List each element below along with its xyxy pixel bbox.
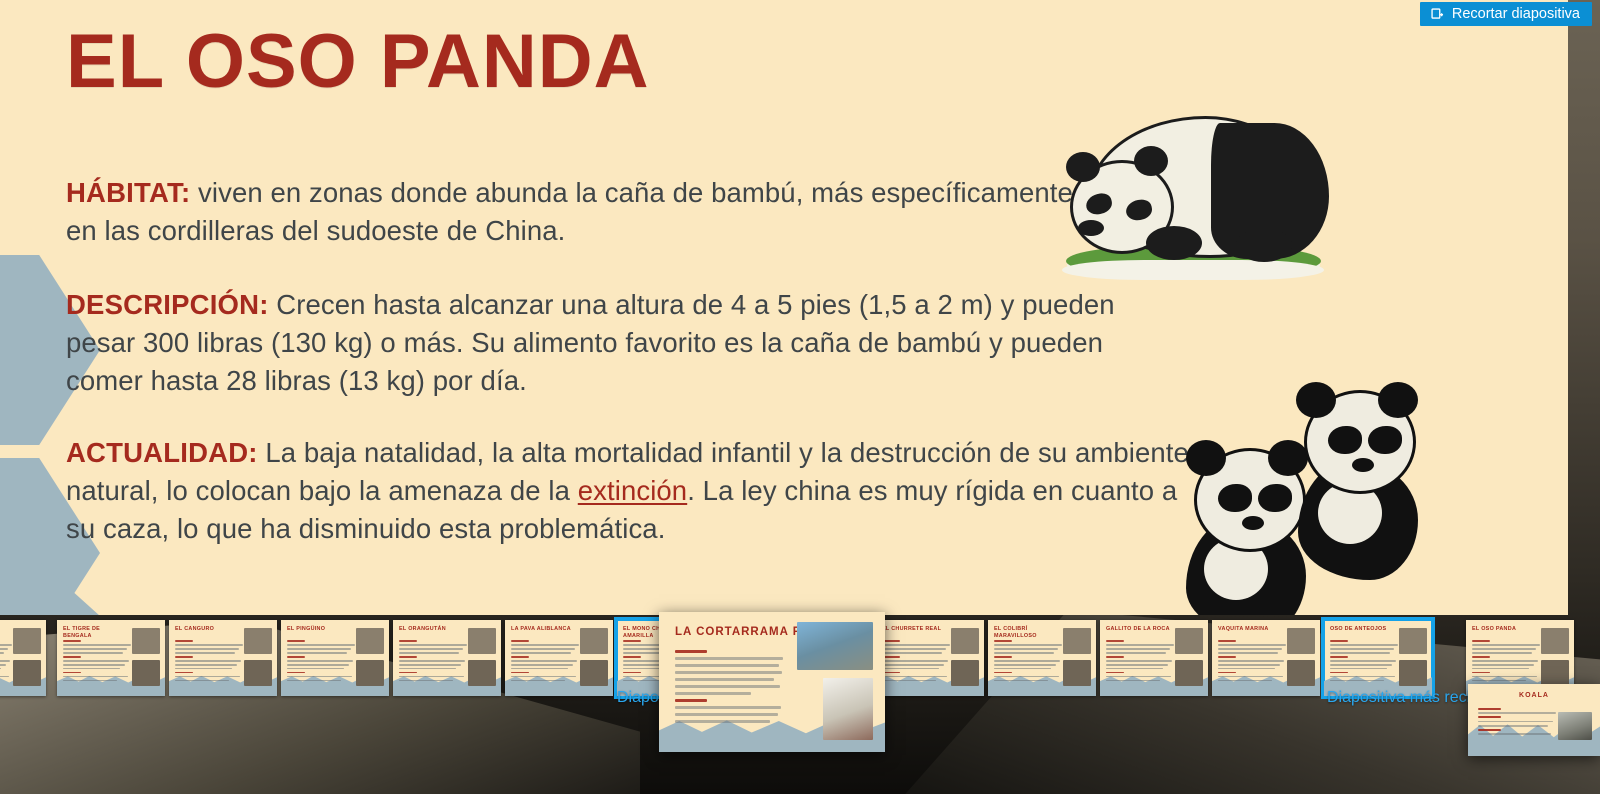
panda-paw-rear <box>1236 228 1292 262</box>
presentation-window: EL OSO PANDA HÁBITAT: viven en zonas don… <box>0 0 1600 794</box>
thumbnail-image-2 <box>1399 660 1427 686</box>
crop-slide-label: Recortar diapositiva <box>1452 7 1580 22</box>
filmstrip-thumbnail[interactable]: EL TIGRE DE BENGALA <box>57 620 165 696</box>
thumbnail-body-lines <box>994 640 1062 684</box>
filmstrip-thumbnail[interactable]: EL CHURRETE REAL <box>876 620 984 696</box>
extincion-link[interactable]: extinción <box>578 475 687 506</box>
thumbnail-image-2 <box>13 660 41 686</box>
thumbnail-image-2 <box>244 660 272 686</box>
filmstrip-thumbnail[interactable]: EL ORANGUTÁN <box>393 620 501 696</box>
descripcion-paragraph: DESCRIPCIÓN: Crecen hasta alcanzar una a… <box>66 286 1156 400</box>
cub-ear-left <box>1186 440 1226 476</box>
panda-ear-left <box>1066 152 1100 182</box>
thumbnail-body-lines <box>511 640 579 684</box>
thumbnail-image-1 <box>132 628 160 654</box>
thumbnail-title: EL OSO PANDA <box>1472 626 1538 633</box>
thumbnail-body-lines <box>1472 640 1540 684</box>
filmstrip-thumbnail[interactable]: OSO DE ANTEOJOS <box>1324 620 1432 696</box>
cub-eye-left <box>1328 426 1362 454</box>
thumbnail-image-1 <box>356 628 384 654</box>
panda-snout <box>1078 220 1104 236</box>
thumbnail-body-lines <box>0 640 12 684</box>
filmstrip-thumbnail[interactable]: EL OSO POLAR <box>0 620 46 696</box>
thumbnail-body-lines <box>1218 640 1286 684</box>
thumbnail-image-2 <box>580 660 608 686</box>
habitat-paragraph: HÁBITAT: viven en zonas donde abunda la … <box>66 174 1076 250</box>
slide-title: EL OSO PANDA <box>66 22 649 102</box>
thumbnail-title: VAQUITA MARINA <box>1218 626 1284 633</box>
cub-eye-right <box>1258 484 1292 512</box>
thumbnail-image-1 <box>951 628 979 654</box>
thumbnail-title: EL CHURRETE REAL <box>882 626 948 633</box>
thumbnail-image-1 <box>13 628 41 654</box>
filmstrip-thumbnail[interactable]: EL CANGURO <box>169 620 277 696</box>
thumbnail-image-2 <box>1287 660 1315 686</box>
slide-canvas[interactable]: EL OSO PANDA HÁBITAT: viven en zonas don… <box>0 0 1568 615</box>
thumbnail-image-2 <box>1063 660 1091 686</box>
thumbnail-title: EL TIGRE DE BENGALA <box>63 626 129 640</box>
thumbnail-image-1 <box>1175 628 1203 654</box>
cub-eye-left <box>1218 484 1252 512</box>
thumbnail-image-2 <box>1175 660 1203 686</box>
habitat-text: viven en zonas donde abunda la caña de b… <box>66 177 1073 246</box>
thumbnail-image-1 <box>1541 628 1569 654</box>
preview-cortarrama[interactable]: LA CORTARRAMA PERUANA <box>659 612 885 752</box>
cub-nose <box>1352 458 1374 472</box>
thumbnail-body-lines <box>175 640 243 684</box>
thumbnail-image-1 <box>468 628 496 654</box>
cub-ear-right <box>1268 440 1308 476</box>
thumbnail-image-1 <box>1399 628 1427 654</box>
thumbnail-image-2 <box>132 660 160 686</box>
cub-eye-right <box>1368 426 1402 454</box>
habitat-label: HÁBITAT: <box>66 177 190 208</box>
thumbnail-body-lines <box>1330 640 1398 684</box>
thumbnail-title: LA PAVA ALIBLANCA <box>511 626 577 633</box>
thumbnail-image-2 <box>356 660 384 686</box>
filmstrip-thumbnail[interactable]: LA PAVA ALIBLANCA <box>505 620 613 696</box>
actualidad-paragraph: ACTUALIDAD: La baja natalidad, la alta m… <box>66 434 1206 548</box>
thumbnail-body-lines <box>63 640 131 684</box>
thumbnail-image-1 <box>244 628 272 654</box>
cub-ear-right <box>1378 382 1418 418</box>
thumbnail-image-1 <box>1063 628 1091 654</box>
thumbnail-title: EL OSO POLAR <box>0 626 10 633</box>
crop-slide-button[interactable]: Recortar diapositiva <box>1420 2 1592 26</box>
thumbnail-body-lines <box>399 640 467 684</box>
thumbnail-image-2 <box>1541 660 1569 686</box>
thumbnail-body-lines <box>287 640 355 684</box>
preview-koala[interactable]: KOALA <box>1468 684 1600 756</box>
thumbnail-title: EL COLIBRÍ MARAVILLOSO <box>994 626 1060 640</box>
filmstrip-thumbnail[interactable]: EL COLIBRÍ MARAVILLOSO <box>988 620 1096 696</box>
actualidad-label: ACTUALIDAD: <box>66 437 258 468</box>
thumbnail-image-1 <box>1287 628 1315 654</box>
thumbnail-title: OSO DE ANTEOJOS <box>1330 626 1396 633</box>
sleeping-panda-photo[interactable] <box>1060 108 1330 288</box>
filmstrip-thumbnail[interactable]: EL PINGÜINO <box>281 620 389 696</box>
filmstrip-thumbnail[interactable]: VAQUITA MARINA <box>1212 620 1320 696</box>
thumbnail-image-2 <box>951 660 979 686</box>
thumbnail-title: EL PINGÜINO <box>287 626 353 633</box>
thumbnail-body-lines <box>1106 640 1174 684</box>
preview-body-lines <box>1478 708 1556 737</box>
panda-paw-front <box>1146 226 1202 260</box>
cub-ear-left <box>1296 382 1336 418</box>
descripcion-label: DESCRIPCIÓN: <box>66 289 269 320</box>
preview-title: KOALA <box>1468 692 1600 699</box>
preview-bird-image-1 <box>797 622 873 670</box>
filmstrip-thumbnail[interactable]: GALLITO DE LA ROCA <box>1100 620 1208 696</box>
thumbnail-title: EL CANGURO <box>175 626 241 633</box>
preview-koala-image <box>1558 712 1592 740</box>
crop-slide-icon <box>1430 7 1445 22</box>
thumbnail-image-1 <box>580 628 608 654</box>
thumbnail-body-lines <box>882 640 950 684</box>
thumbnail-title: GALLITO DE LA ROCA <box>1106 626 1172 633</box>
panda-cubs-photo[interactable] <box>1180 378 1500 615</box>
preview-body-lines <box>675 650 783 727</box>
panda-ear-right <box>1134 146 1168 176</box>
thumbnail-image-2 <box>468 660 496 686</box>
thumbnail-title: EL ORANGUTÁN <box>399 626 465 633</box>
cub-nose <box>1242 516 1264 530</box>
preview-bird-image-2 <box>823 678 873 740</box>
